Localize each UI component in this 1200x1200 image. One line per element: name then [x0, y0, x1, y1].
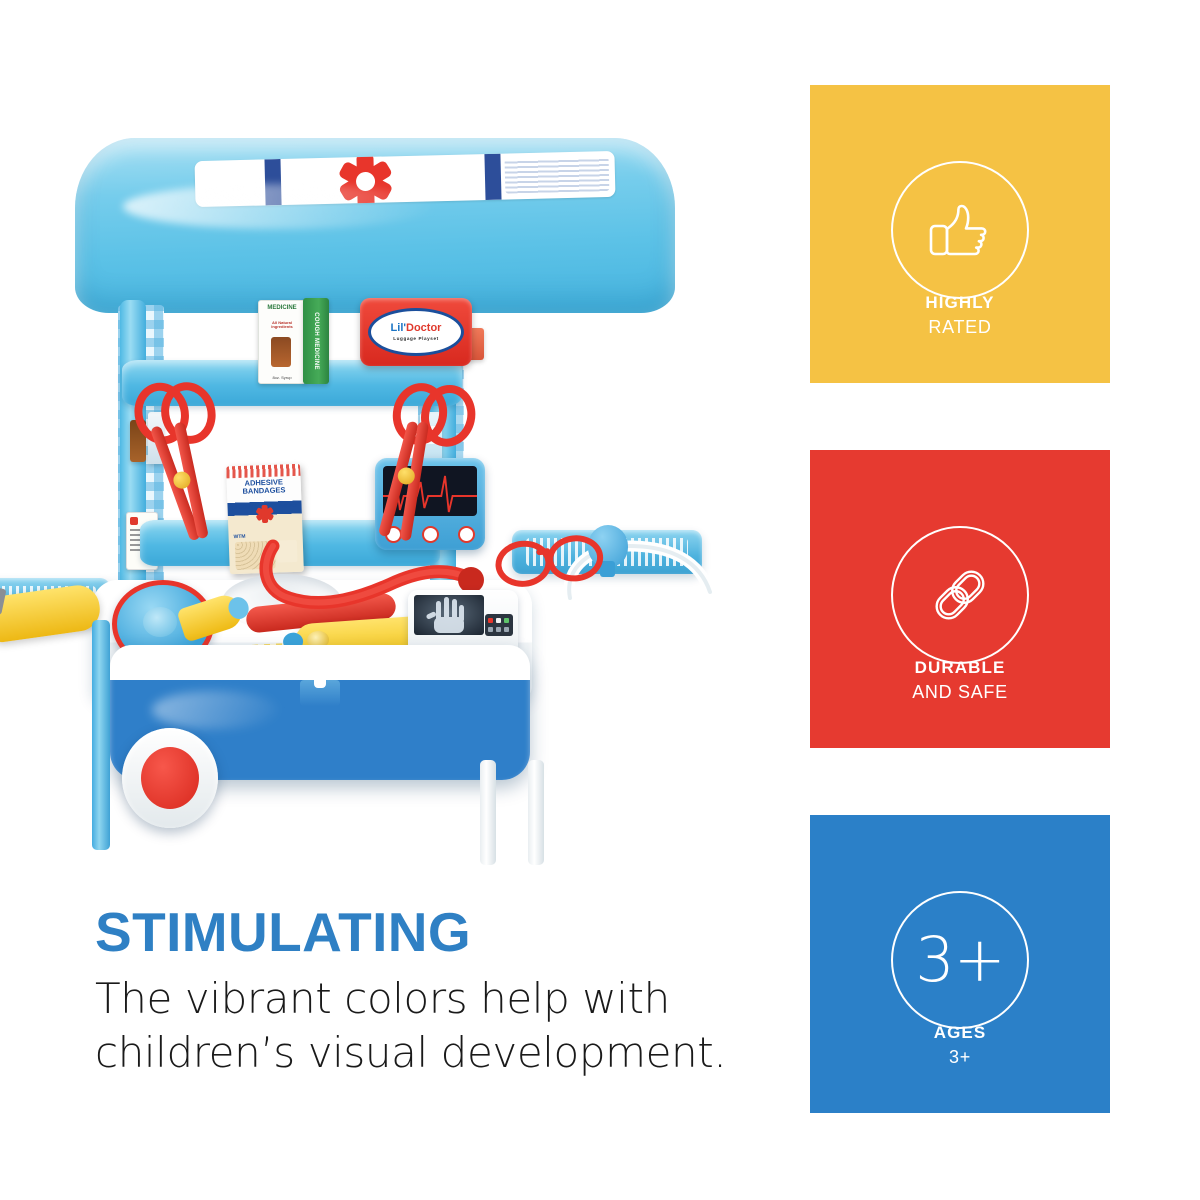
- cart-leg: [480, 760, 496, 865]
- marketing-copy: STIMULATING The vibrant colors help with…: [95, 905, 755, 1080]
- canopy: [75, 138, 675, 313]
- chain-link-glyph: [923, 558, 997, 632]
- chain-link-icon: [891, 526, 1029, 664]
- card-subtitle: 3+: [810, 1046, 1110, 1069]
- bandage-box-size: ONE SIZE: [279, 504, 298, 509]
- decal-text-block: [505, 157, 610, 194]
- feature-card-durable-and-safe[interactable]: DURABLE AND SAFE: [810, 450, 1110, 748]
- card-labels: DURABLE AND SAFE: [810, 657, 1110, 704]
- medicine-box-subtitle: All Natural Ingredients: [262, 321, 302, 330]
- cart-leg: [528, 760, 544, 865]
- card-subtitle: AND SAFE: [810, 681, 1110, 704]
- medicine-box: MEDICINE All Natural Ingredients 8oz. Sy…: [258, 300, 306, 384]
- card-labels: AGES 3+: [810, 1022, 1110, 1069]
- bandage-box-title: ADHESIVE BANDAGES: [227, 478, 302, 497]
- card-subtitle: RATED: [810, 316, 1110, 339]
- medicine-bottle-art: [271, 337, 291, 367]
- logo-oval: Lil'Doctor Luggage Playset: [368, 308, 464, 356]
- thumbs-up-glyph: [923, 193, 997, 267]
- bandage-star-icon: [256, 505, 275, 524]
- toy-doctor-cart: MEDICINE All Natural Ingredients 8oz. Sy…: [0, 60, 790, 850]
- card-title: AGES: [810, 1022, 1110, 1043]
- headline: STIMULATING: [95, 905, 755, 960]
- bandage-box-top-stripe: [226, 464, 300, 479]
- cough-medicine-box: COUGH MEDICINE: [303, 298, 329, 384]
- card-labels: HIGHLY RATED: [810, 292, 1110, 339]
- xray-screen: [414, 595, 484, 635]
- medicine-box-footer: 8oz. Syrup: [262, 375, 302, 380]
- card-title: HIGHLY: [810, 292, 1110, 313]
- feature-card-ages[interactable]: 3+ AGES 3+: [810, 815, 1110, 1113]
- suitcase-latch: [300, 680, 340, 706]
- logo-word-lil: Lil': [391, 322, 406, 334]
- age-badge-icon: 3+: [891, 891, 1029, 1029]
- product-marketing-page: MEDICINE All Natural Ingredients 8oz. Sy…: [0, 0, 1200, 1200]
- wheel-hub: [141, 747, 199, 809]
- cough-medicine-label: COUGH MEDICINE: [313, 312, 319, 370]
- canopy-decal: [195, 151, 616, 207]
- bandage-box-count: 10 COUNT: [232, 505, 257, 511]
- logo-subtitle: Luggage Playset: [393, 336, 439, 341]
- age-badge-text: 3+: [915, 929, 1004, 991]
- feature-cards: HIGHLY RATED D: [810, 85, 1110, 1113]
- card-title: DURABLE: [810, 657, 1110, 678]
- medicine-box-title: MEDICINE: [262, 305, 302, 311]
- toy-glasses: [493, 532, 607, 583]
- logo-word-doctor: Doctor: [406, 322, 441, 334]
- cart-wheel: [122, 728, 218, 828]
- decal-stripe: [484, 154, 501, 200]
- bandage-box-brand: WTM: [234, 534, 246, 540]
- xray-keypad: [485, 614, 513, 636]
- cart-frame-leg: [92, 620, 110, 850]
- body-copy: The vibrant colors help with children’s …: [95, 972, 755, 1080]
- hand-xray-icon: [414, 595, 484, 635]
- decal-stripe: [264, 159, 281, 205]
- star-of-life-icon: [336, 152, 393, 207]
- product-photo: MEDICINE All Natural Ingredients 8oz. Sy…: [0, 60, 790, 850]
- feature-card-highly-rated[interactable]: HIGHLY RATED: [810, 85, 1110, 383]
- product-logo-sign: Lil'Doctor Luggage Playset: [360, 298, 472, 366]
- thumbs-up-icon: [891, 161, 1029, 299]
- logo-wordmark: Lil'Doctor: [391, 323, 442, 334]
